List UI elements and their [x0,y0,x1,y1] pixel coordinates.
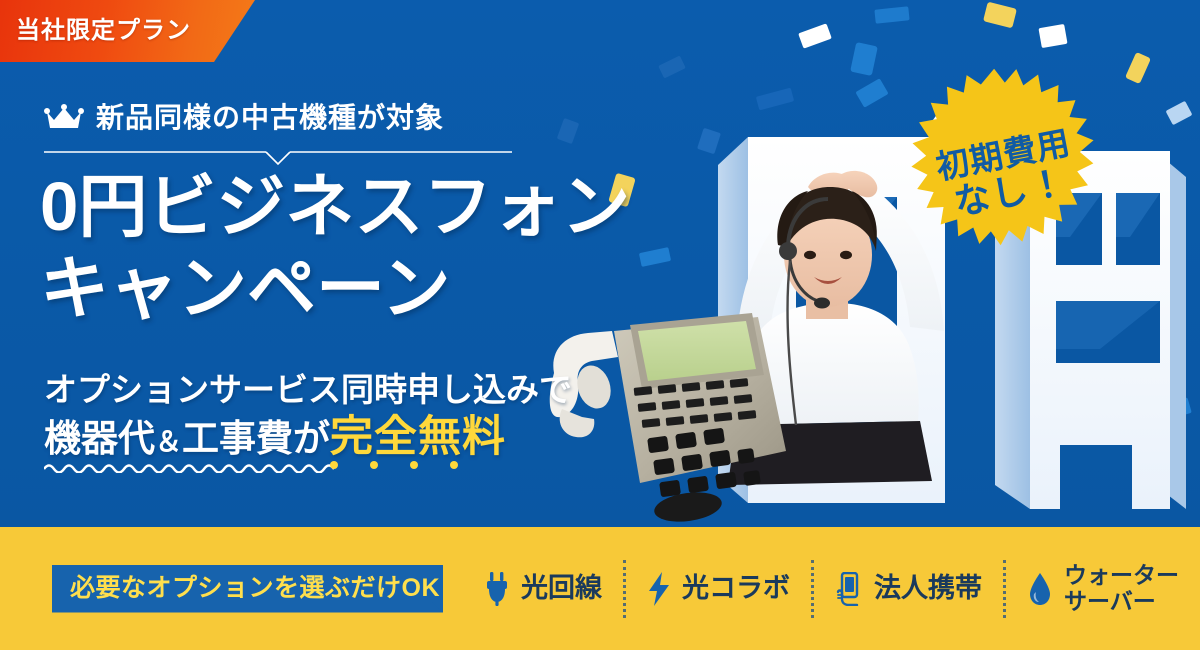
eyebrow-row: 新品同様の中古機種が対象 [44,104,444,132]
option-separator [811,560,814,618]
subcopy-highlight: 完全無料 [330,413,506,461]
option-item-hikari-collabo[interactable]: 光コラボ [626,558,811,620]
emphasis-dot [410,461,418,469]
divider-with-chevron [44,150,512,166]
plug-icon [484,572,510,606]
option-label: 法人携帯 [874,574,982,603]
wavy-underline [44,461,334,473]
option-label-line-1: ウォーター [1064,562,1179,588]
no-initial-cost-badge: 初期費用 なし！ [891,56,1123,292]
options-bar: 必要なオプションを選ぶだけOK 光回線 [0,527,1200,650]
plan-ribbon-badge: 当社限定プラン [0,0,258,62]
options-list: 光回線 光コラボ [463,527,1200,650]
subcopy-ampersand: ＆ [155,427,182,457]
option-item-hikari-kaisen[interactable]: 光回線 [463,558,623,620]
options-ribbon-label: 必要なオプションを選ぶだけOK [70,576,440,601]
subcopy-line-2: 機器代＆工事費が完全無料 [44,412,572,467]
option-label: 光コラボ [682,574,790,603]
subcopy-prefix: 機器代 [44,418,155,459]
emphasis-dots [330,461,490,473]
emphasis-dot [370,461,378,469]
headline-line-2: キャンペーン [40,248,630,330]
subcopy: オプションサービス同時申し込みで 機器代＆工事費が完全無料 [44,368,572,467]
option-label-line-2: サーバー [1064,588,1156,614]
option-separator [623,560,626,618]
option-item-water-server[interactable]: ウォーター サーバー [1006,558,1200,620]
promo-banner: 当社限定プラン 新品同様の中古機種が対象 0円ビジネスフォン キャンペーン オプ… [0,0,1200,650]
mobile-icon [835,572,863,606]
option-label: ウォーター サーバー [1064,563,1179,615]
headline-line-1: 0円ビジネスフォン [40,168,630,245]
emphasis-dot [450,461,458,469]
option-separator [1003,560,1006,618]
option-label: 光回線 [521,574,602,603]
page-title: 0円ビジネスフォン キャンペーン [40,166,630,330]
option-item-corporate-mobile[interactable]: 法人携帯 [814,558,1003,620]
subcopy-line-1: オプションサービス同時申し込みで [44,368,572,412]
badge-text-group: 初期費用 なし！ [885,50,1130,298]
crown-icon [44,104,84,132]
eyebrow-text: 新品同様の中古機種が対象 [96,104,444,132]
plan-ribbon-label: 当社限定プラン [16,19,191,43]
subcopy-mid: 工事費が [182,418,330,459]
options-ribbon: 必要なオプションを選ぶだけOK [52,565,443,613]
droplet-icon [1027,572,1053,606]
bolt-icon [647,572,671,606]
emphasis-dot [330,461,338,469]
